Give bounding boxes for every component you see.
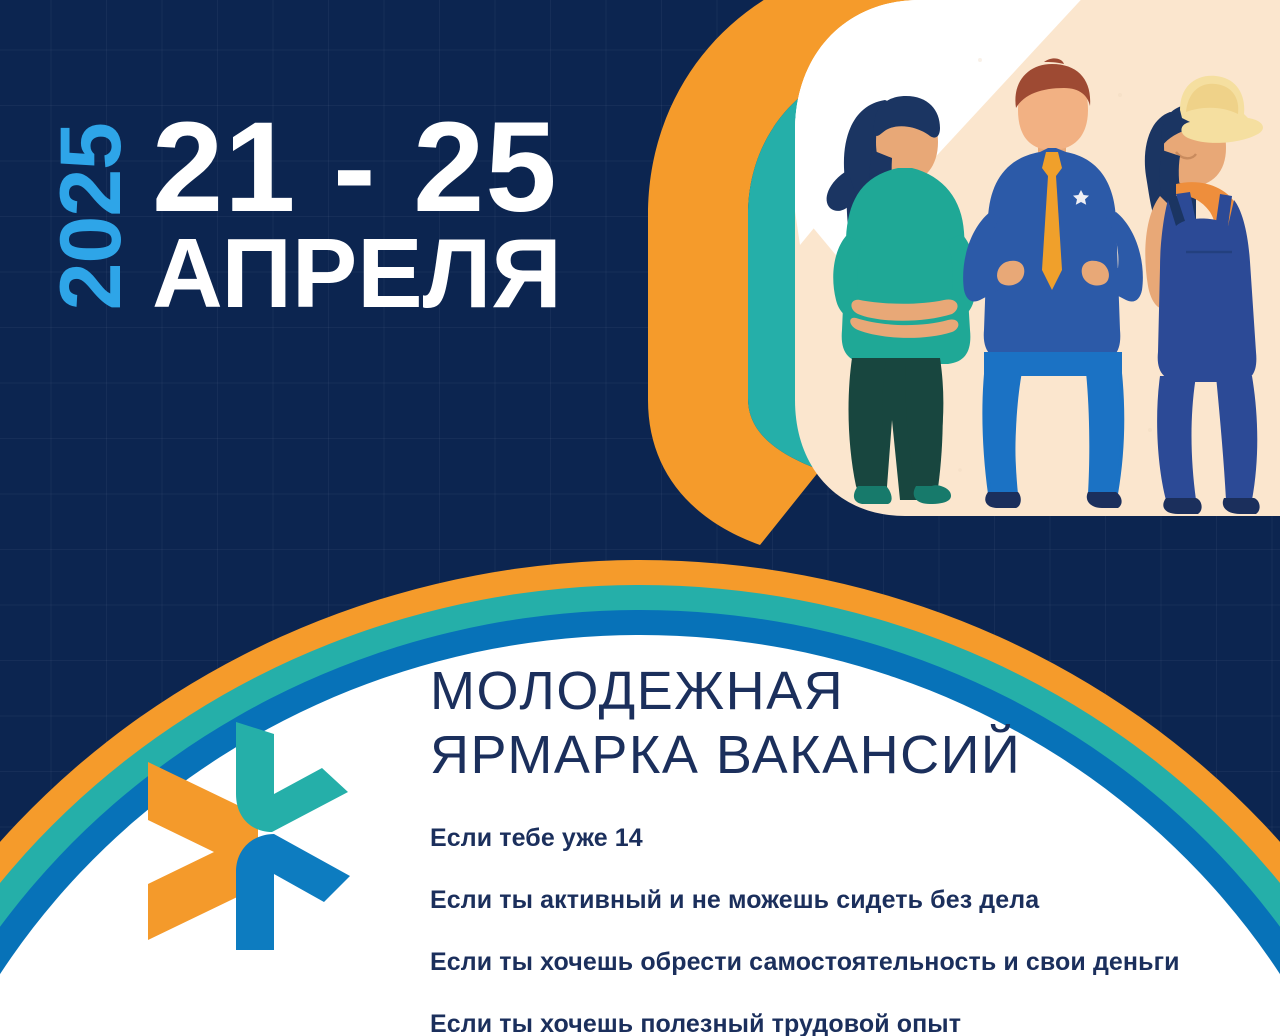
year-label: 2025 bbox=[48, 123, 134, 310]
page-title: МОЛОДЕЖНАЯ ЯРМАРКА ВАКАНСИЙ bbox=[430, 660, 1170, 787]
title-line-1: МОЛОДЕЖНАЯ bbox=[430, 660, 1170, 724]
logo-chevron-blue bbox=[236, 834, 350, 950]
event-logo bbox=[140, 722, 375, 952]
poster-canvas: 2025 21 - 25 АПРЕЛЯ МОЛОДЕЖНАЯ ЯРМАРКА В… bbox=[0, 0, 1280, 1036]
illustration-panel bbox=[780, 0, 1280, 530]
logo-chevron-teal bbox=[236, 722, 348, 832]
title-line-2: ЯРМАРКА ВАКАНСИЙ bbox=[430, 724, 1170, 788]
date-month: АПРЕЛЯ bbox=[152, 224, 562, 322]
date-range: 21 - 25 bbox=[152, 105, 562, 230]
date-block: 2025 21 - 25 АПРЕЛЯ bbox=[0, 105, 562, 322]
list-item: Если ты хочешь обрести самостоятельность… bbox=[430, 950, 1260, 975]
logo-mark bbox=[140, 722, 375, 952]
list-item: Если тебе уже 14 bbox=[430, 826, 1260, 851]
date-text-group: 21 - 25 АПРЕЛЯ bbox=[152, 105, 562, 322]
conditions-list: Если тебе уже 14 Если ты активный и не м… bbox=[430, 826, 1260, 1036]
list-item: Если ты хочешь полезный трудовой опыт bbox=[430, 1012, 1260, 1036]
list-item: Если ты активный и не можешь сидеть без … bbox=[430, 888, 1260, 913]
